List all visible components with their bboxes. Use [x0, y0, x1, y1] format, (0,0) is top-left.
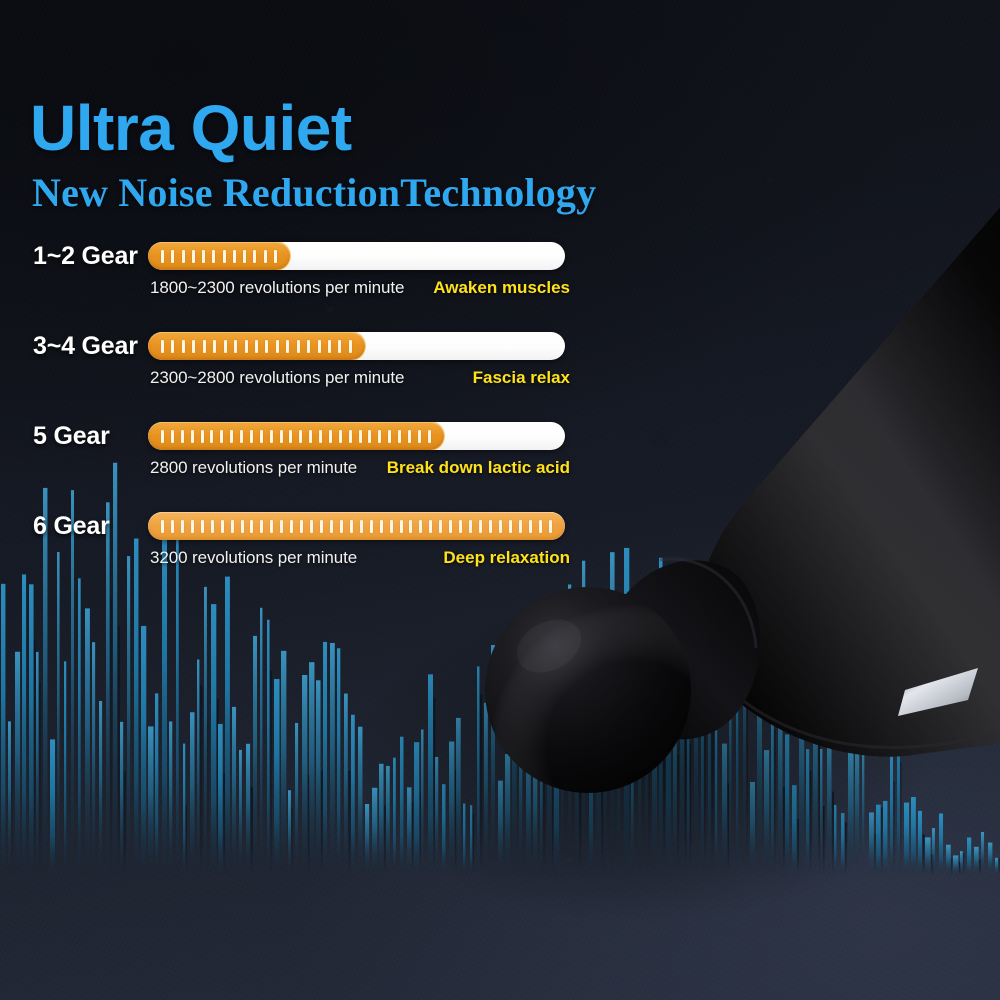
gear-bar-tick — [439, 520, 442, 533]
gear-bar-tick — [419, 520, 422, 533]
gear-bar-tick — [243, 250, 246, 263]
gear-bar-tick — [203, 340, 206, 353]
gear-label: 5 Gear — [33, 421, 145, 451]
gear-bar-tick — [210, 430, 213, 443]
gear-bar-tick — [380, 520, 383, 533]
gear-bar-tick — [171, 520, 174, 533]
gear-bar-ticks — [161, 520, 552, 533]
gear-bar-ticks — [161, 250, 277, 263]
gear-bar-tick — [182, 250, 185, 263]
gear-bar-tick — [270, 430, 273, 443]
gear-row: 5 Gear 2800 revolutions per minute Break… — [0, 412, 1000, 502]
gear-bar-tick — [171, 250, 174, 263]
gear-bar-tick — [201, 520, 204, 533]
gear-speed-list: 1~2 Gear 1800~2300 revolutions per minut… — [0, 232, 1000, 592]
gear-bar-tick — [264, 250, 267, 263]
gear-bar-tick — [388, 430, 391, 443]
gear-bar-tick — [339, 430, 342, 443]
gear-bar-tick — [286, 340, 289, 353]
gear-bar-tick — [245, 340, 248, 353]
gear-bar-tick — [171, 340, 174, 353]
gear-bar-tick — [509, 520, 512, 533]
gear-speed-bar-track[interactable] — [148, 422, 565, 450]
gear-speed-bar-fill — [148, 332, 365, 360]
gear-bar-tick — [191, 520, 194, 533]
gear-bar-tick — [408, 430, 411, 443]
gear-bar-tick — [202, 250, 205, 263]
gear-bar-ticks — [161, 430, 431, 443]
gear-bar-tick — [290, 520, 293, 533]
gear-bar-tick — [280, 430, 283, 443]
gear-bar-tick — [223, 250, 226, 263]
gear-bar-tick — [398, 430, 401, 443]
gear-bar-ticks — [161, 340, 352, 353]
gear-bar-tick — [359, 430, 362, 443]
gear-bar-tick — [161, 250, 164, 263]
gear-bar-tick — [192, 340, 195, 353]
gear-bar-tick — [212, 250, 215, 263]
gear-bar-tick — [519, 520, 522, 533]
gear-bar-tick — [201, 430, 204, 443]
gear-speed-bar-fill — [148, 242, 290, 270]
gear-row: 1~2 Gear 1800~2300 revolutions per minut… — [0, 232, 1000, 322]
gear-bar-tick — [224, 340, 227, 353]
gear-bar-tick — [350, 520, 353, 533]
gear-bar-tick — [338, 340, 341, 353]
gear-bar-tick — [274, 250, 277, 263]
gear-label: 1~2 Gear — [33, 241, 145, 271]
gear-bar-tick — [260, 430, 263, 443]
gear-bar-tick — [260, 520, 263, 533]
gear-bar-tick — [270, 520, 273, 533]
gear-bar-tick — [161, 520, 164, 533]
gear-label: 6 Gear — [33, 511, 145, 541]
gear-bar-tick — [280, 520, 283, 533]
gear-rpm-caption: 2800 revolutions per minute — [150, 457, 357, 479]
gear-bar-tick — [181, 430, 184, 443]
gear-bar-tick — [307, 340, 310, 353]
gear-bar-tick — [182, 340, 185, 353]
gear-bar-tick — [234, 340, 237, 353]
product-infographic-poster: Ultra Quiet New Noise ReductionTechnolog… — [0, 0, 1000, 1000]
gear-bar-tick — [319, 430, 322, 443]
gear-speed-bar-track[interactable] — [148, 512, 565, 540]
gear-bar-tick — [370, 520, 373, 533]
gear-bar-tick — [265, 340, 268, 353]
gear-bar-tick — [499, 520, 502, 533]
gear-bar-tick — [368, 430, 371, 443]
gear-bar-tick — [429, 520, 432, 533]
poster-subtitle: New Noise ReductionTechnology — [32, 173, 596, 213]
gear-bar-tick — [181, 520, 184, 533]
gear-benefit-label: Deep relaxation — [443, 547, 570, 569]
gear-bar-tick — [469, 520, 472, 533]
gear-bar-tick — [220, 430, 223, 443]
gear-bar-tick — [549, 520, 552, 533]
gear-bar-tick — [409, 520, 412, 533]
gear-speed-bar-fill — [148, 422, 444, 450]
gear-bar-tick — [299, 430, 302, 443]
gear-label: 3~4 Gear — [33, 331, 145, 361]
gear-row: 3~4 Gear 2300~2800 revolutions per minut… — [0, 322, 1000, 412]
gear-bar-tick — [241, 520, 244, 533]
gear-bar-tick — [489, 520, 492, 533]
gear-bar-tick — [360, 520, 363, 533]
gear-bar-tick — [161, 340, 164, 353]
gear-bar-tick — [253, 250, 256, 263]
gear-bar-tick — [529, 520, 532, 533]
gear-bar-tick — [297, 340, 300, 353]
gear-bar-tick — [459, 520, 462, 533]
gear-bar-tick — [539, 520, 542, 533]
gear-bar-tick — [378, 430, 381, 443]
gear-bar-tick — [211, 520, 214, 533]
gear-bar-tick — [428, 430, 431, 443]
gear-bar-tick — [191, 430, 194, 443]
gear-speed-bar-fill — [148, 512, 565, 540]
gear-bar-tick — [330, 520, 333, 533]
gear-rpm-caption: 3200 revolutions per minute — [150, 547, 357, 569]
gear-bar-tick — [320, 520, 323, 533]
gear-bar-tick — [231, 520, 234, 533]
gear-bar-tick — [390, 520, 393, 533]
gear-bar-tick — [250, 430, 253, 443]
gear-bar-tick — [329, 430, 332, 443]
gear-bar-tick — [449, 520, 452, 533]
gear-bar-tick — [309, 430, 312, 443]
gear-bar-tick — [310, 520, 313, 533]
gear-bar-tick — [192, 250, 195, 263]
gear-bar-tick — [349, 340, 352, 353]
gear-bar-tick — [479, 520, 482, 533]
gear-bar-tick — [171, 430, 174, 443]
gear-bar-tick — [418, 430, 421, 443]
gear-bar-tick — [340, 520, 343, 533]
gear-bar-tick — [349, 430, 352, 443]
poster-title: Ultra Quiet — [30, 96, 352, 160]
gear-bar-tick — [161, 430, 164, 443]
gear-benefit-label: Break down lactic acid — [387, 457, 570, 479]
gear-speed-bar-track[interactable] — [148, 242, 565, 270]
gear-bar-tick — [276, 340, 279, 353]
gear-benefit-label: Awaken muscles — [433, 277, 570, 299]
gear-rpm-caption: 2300~2800 revolutions per minute — [150, 367, 404, 389]
gear-row: 6 Gear 3200 revolutions per minute Deep … — [0, 502, 1000, 592]
gear-bar-tick — [233, 250, 236, 263]
gear-bar-tick — [318, 340, 321, 353]
gear-rpm-caption: 1800~2300 revolutions per minute — [150, 277, 404, 299]
gear-bar-tick — [300, 520, 303, 533]
gear-bar-tick — [250, 520, 253, 533]
gear-bar-tick — [221, 520, 224, 533]
gear-bar-tick — [230, 430, 233, 443]
gear-bar-tick — [255, 340, 258, 353]
gear-bar-tick — [400, 520, 403, 533]
gear-bar-tick — [328, 340, 331, 353]
gear-bar-tick — [213, 340, 216, 353]
gear-speed-bar-track[interactable] — [148, 332, 565, 360]
gear-bar-tick — [240, 430, 243, 443]
gear-benefit-label: Fascia relax — [473, 367, 570, 389]
gear-bar-tick — [289, 430, 292, 443]
